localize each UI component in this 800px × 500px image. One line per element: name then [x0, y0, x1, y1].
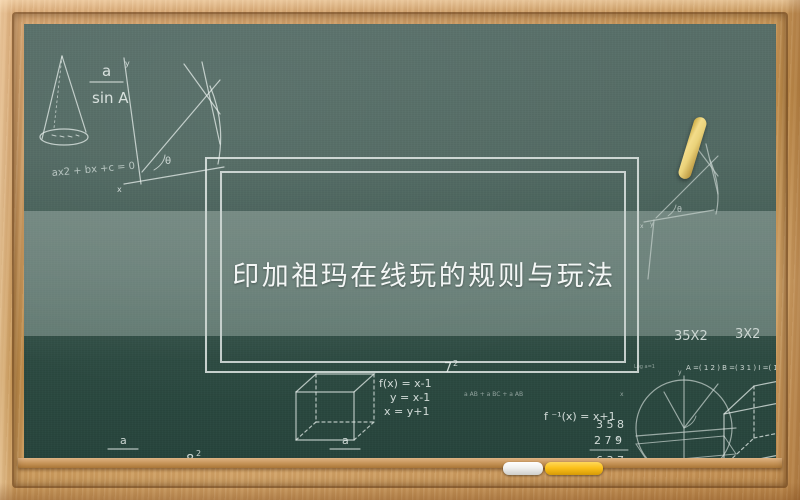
addend-1: 3 5 8: [596, 418, 624, 431]
fx-line-2: y = x-1: [390, 391, 430, 404]
page-title: 印加祖玛在线玩的规则与玩法: [232, 254, 616, 293]
quadratic-equation: ax2 + bx +c = 0: [51, 161, 135, 179]
title-overlay-band: 印加祖玛在线玩的规则与玩法: [24, 211, 776, 336]
frame-bevel-top: [0, 0, 800, 16]
chalkboard-surface: a sin A y: [24, 24, 776, 458]
yellow-chalk-icon: [545, 462, 603, 475]
fx-line-3: x = y+1: [384, 405, 429, 418]
cube-drawing-center: [296, 374, 374, 440]
frame-bevel-right: [780, 0, 800, 500]
small-expr-center: a AB + a BC + a AB: [464, 391, 523, 398]
axis-label-y-circle: y: [678, 369, 682, 376]
matrix-row: A =( 1 2 ) B =( 3 1 ) I =( 1 0 ): [686, 364, 776, 372]
axis-label-x-topleft: x: [117, 185, 122, 194]
svg-text:a: a: [102, 62, 111, 80]
axis-label-y-topleft: y: [125, 59, 130, 68]
circle-axes-drawing: [636, 376, 736, 458]
fraction2-num: a: [120, 434, 127, 447]
frame-bevel-left: [0, 0, 16, 500]
svg-text:sin A: sin A: [92, 89, 129, 107]
axis-label-x-bottomright: x: [620, 391, 624, 398]
cube-drawing-right: [724, 374, 776, 458]
fraction3-num: a: [342, 434, 349, 447]
white-chalk-icon: [503, 462, 543, 475]
fx-line-1: f(x) = x-1: [379, 377, 432, 390]
chalk-tray-ledge: [18, 458, 782, 468]
fraction-a-over-sinA-topleft: a sin A: [92, 62, 129, 107]
angle-label-topleft: θ: [165, 156, 171, 167]
cone-drawing: [40, 56, 88, 145]
blackboard-card: a sin A y: [0, 0, 800, 500]
addend-2: 2 7 9: [594, 434, 622, 447]
power-8-exp: 2: [196, 449, 201, 458]
frame-bevel-bottom: [0, 478, 800, 500]
